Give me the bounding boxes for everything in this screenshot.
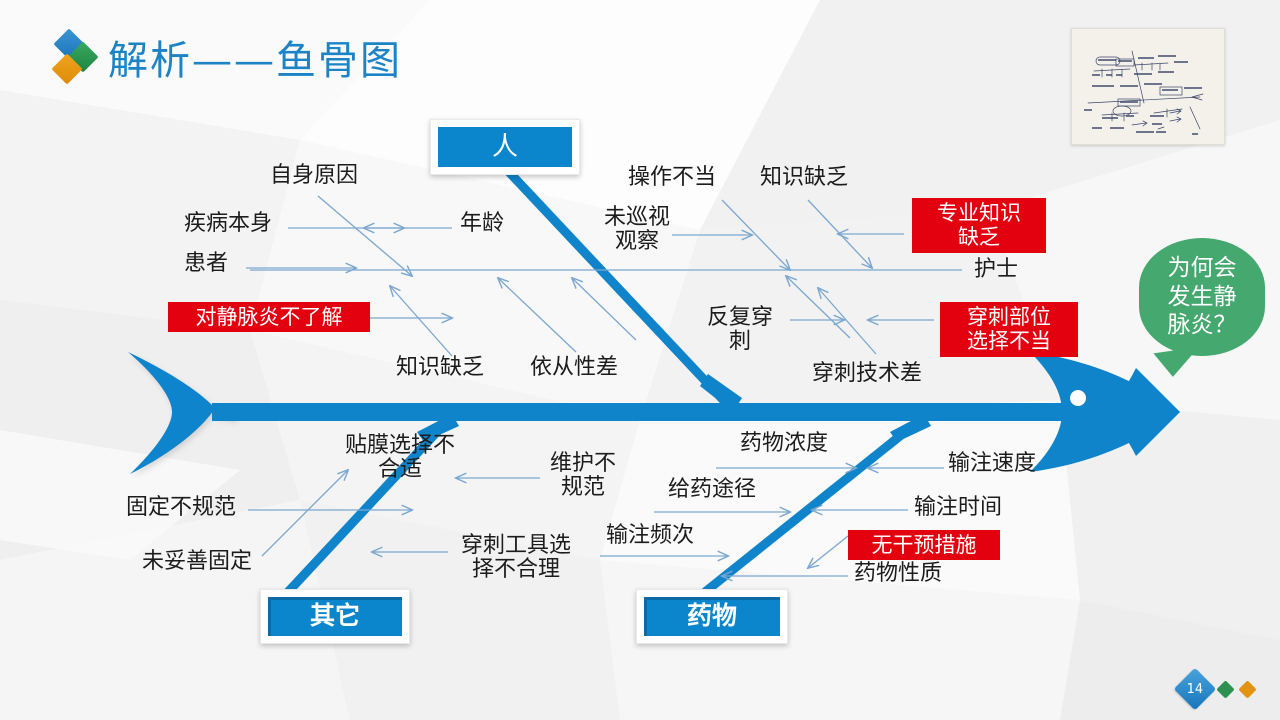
- category-box-people[interactable]: 人: [430, 119, 580, 175]
- category-label-drug: 药物: [644, 597, 780, 636]
- cause-label-gudingbuguifan: 固定不规范: [126, 496, 236, 520]
- footer-diamond-orange-icon: [1238, 680, 1256, 698]
- cause-label-shuzhusudu: 输注速度: [948, 452, 1036, 476]
- fish-eye: [1070, 390, 1086, 406]
- cause-label-fanfuchuanci: 反复穿 刺: [696, 306, 784, 354]
- cause-label-huanzhe: 患者: [184, 252, 228, 276]
- bone-nurse-feed-1: [786, 276, 850, 338]
- question-bubble-text: 为何会 发生静 脉炎？: [1168, 254, 1237, 341]
- bone-wuganyucuoshi: [808, 536, 848, 568]
- bone-yicongxingcha: [498, 278, 576, 352]
- page-number-value: 14: [1187, 681, 1204, 696]
- cause-label-caozuobudang: 操作不当: [628, 166, 716, 190]
- cause-highlight-chuancibuweixuanzebudang: 穿刺部位 选择不当: [940, 302, 1078, 357]
- cause-label-jibingbenshen: 疾病本身: [184, 212, 272, 236]
- cause-label-weihubuguifan: 维护不 规范: [548, 452, 618, 500]
- footer-diamond-green-icon: [1216, 680, 1234, 698]
- cause-label-shuzhupinci: 输注频次: [606, 524, 694, 548]
- slide-title-block: 解析——鱼骨图: [48, 28, 402, 86]
- fish-spine: [212, 403, 1064, 421]
- cause-label-chuancigongjuxuanzebuheli: 穿刺工具选 择不合理: [448, 534, 584, 582]
- sketch-strokes-icon: [1072, 29, 1224, 144]
- cause-label-weixunshiguancha: 未巡视 观察: [596, 206, 678, 254]
- category-label-people: 人: [438, 127, 572, 167]
- page-number-diamond-icon: 14: [1174, 668, 1216, 710]
- cause-label-hushi: 护士: [974, 258, 1018, 282]
- page-number-badge: 14: [1180, 674, 1254, 704]
- cause-label-tiemoxuanzebuheshi: 贴膜选择不 合适: [334, 434, 466, 482]
- slide-canvas: 解析——鱼骨图: [0, 0, 1280, 720]
- question-bubble: 为何会 发生静 脉炎？: [1139, 238, 1265, 356]
- cause-highlight-zhuanyezhishiquefa: 专业知识 缺乏: [912, 198, 1046, 253]
- cause-label-zhishiquefa-left: 知识缺乏: [396, 356, 484, 380]
- bone-chuancijishu: [818, 288, 876, 354]
- category-box-other[interactable]: 其它: [260, 589, 410, 644]
- category-box-drug[interactable]: 药物: [636, 589, 788, 644]
- cause-label-geiyaotujing: 给药途径: [668, 478, 756, 502]
- cause-highlight-duijingmaiyanbuliaojie: 对静脉炎不了解: [168, 302, 370, 332]
- diamond-logo-icon: [48, 29, 96, 85]
- bone-zhishiquefa-1: [390, 286, 452, 356]
- bone-zishenyuanyin: [318, 196, 412, 276]
- cause-label-chuancijishucha: 穿刺技术差: [812, 362, 922, 386]
- cause-label-yaowuxingzhi: 药物性质: [854, 562, 942, 586]
- cause-label-yaowunongdu: 药物浓度: [740, 432, 828, 456]
- cause-label-nianling: 年龄: [460, 212, 504, 236]
- cause-label-yicongxingcha: 依从性差: [530, 356, 618, 380]
- cause-highlight-wuganyucuoshi: 无干预措施: [848, 530, 1000, 560]
- category-label-other: 其它: [268, 597, 402, 636]
- cause-label-shuzhushijian: 输注时间: [914, 496, 1002, 520]
- cause-label-zhishiquefa-right: 知识缺乏: [760, 166, 848, 190]
- cause-label-zishenyuanyin: 自身原因: [270, 164, 358, 188]
- page-title: 解析——鱼骨图: [108, 28, 402, 86]
- bone-nurse-feed-2: [572, 278, 636, 340]
- cause-label-weituoshanguding: 未妥善固定: [142, 550, 252, 574]
- handwritten-sketch-thumbnail: [1071, 28, 1225, 145]
